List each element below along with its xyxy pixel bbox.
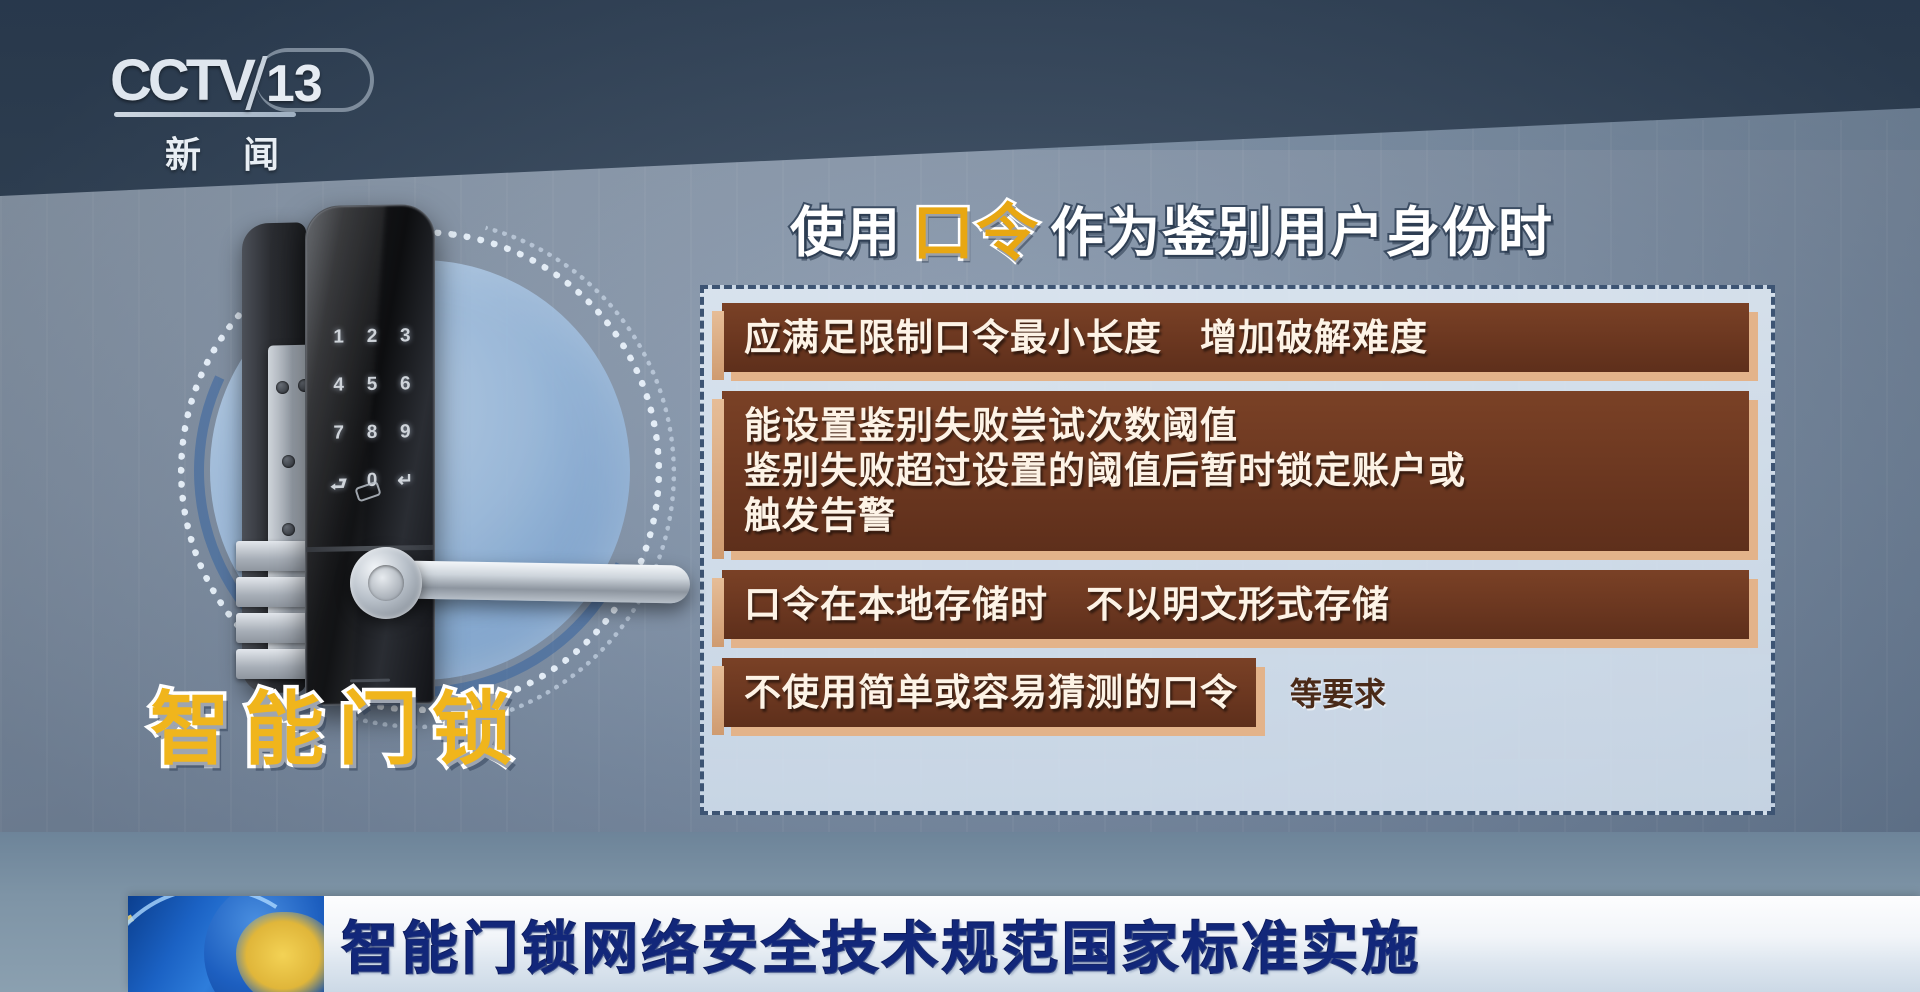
headline: 使用 口令 作为鉴别用户身份时: [790, 182, 1554, 272]
requirement-bar: 不使用简单或容易猜测的口令: [722, 658, 1256, 727]
keypad-key[interactable]: 7: [322, 422, 355, 445]
keypad-key[interactable]: 9: [389, 421, 422, 444]
banner-headline: 智能门锁网络安全技术规范国家标准实施: [342, 904, 1422, 985]
keypad-key[interactable]: 4: [322, 374, 355, 397]
screw-icon: [282, 523, 295, 536]
keypad-key[interactable]: 3: [389, 325, 422, 348]
keypad-key[interactable]: 6: [389, 373, 422, 396]
logo-channel-number: 13: [266, 58, 322, 110]
requirement-bar: 应满足限制口令最小长度 增加破解难度: [722, 303, 1749, 372]
keypad-key[interactable]: 8: [355, 422, 388, 445]
lock-keypad[interactable]: 1 2 3 4 5 6 7 8 9 ⮐ 0 ↵: [322, 325, 422, 503]
broadcast-frame: CCTV 13 新 闻 1 2 3 4: [0, 0, 1920, 992]
requirements-suffix-note: 等要求: [1290, 669, 1386, 715]
channel-logo: CCTV 13 新 闻: [110, 52, 370, 178]
lock-bolt: [236, 613, 310, 643]
keypad-key[interactable]: 1: [322, 326, 355, 349]
screw-icon: [276, 381, 289, 394]
logo-cctv-text: CCTV: [110, 52, 252, 110]
lock-handle: [400, 560, 691, 603]
lower-third-banner: 智能门锁网络安全技术规范国家标准实施: [128, 896, 1920, 992]
lock-rosette: [350, 547, 422, 619]
lock-bolt: [236, 541, 310, 571]
globe-icon: [128, 896, 324, 992]
logo-subtitle: 新 闻: [122, 126, 322, 178]
lock-front-panel: 1 2 3 4 5 6 7 8 9 ⮐ 0 ↵: [305, 204, 435, 706]
keypad-key-enter[interactable]: ↵: [389, 469, 422, 502]
requirement-row-last: 不使用简单或容易猜测的口令 等要求: [722, 658, 1749, 727]
keypad-key[interactable]: 5: [355, 374, 388, 397]
keypad-key[interactable]: 2: [355, 326, 388, 349]
requirement-bar: 能设置鉴别失败尝试次数阈值 鉴别失败超过设置的阈值后暂时锁定账户或 触发告警: [722, 391, 1749, 550]
headline-suffix: 作为鉴别用户身份时: [1050, 188, 1554, 267]
keypad-key-back[interactable]: ⮐: [322, 470, 355, 503]
banner-text-area: 智能门锁网络安全技术规范国家标准实施: [324, 896, 1920, 992]
screw-icon: [282, 455, 295, 468]
requirements-panel: 应满足限制口令最小长度 增加破解难度 能设置鉴别失败尝试次数阈值 鉴别失败超过设…: [700, 285, 1775, 815]
smart-lock-caption: 智能门锁: [150, 665, 526, 781]
smart-lock-illustration: 1 2 3 4 5 6 7 8 9 ⮐ 0 ↵: [150, 205, 710, 705]
headline-prefix: 使用: [790, 188, 902, 267]
headline-keyword: 口令: [912, 182, 1040, 272]
lock-bolt: [236, 577, 310, 607]
requirement-bar: 口令在本地存储时 不以明文形式存储: [722, 570, 1749, 639]
